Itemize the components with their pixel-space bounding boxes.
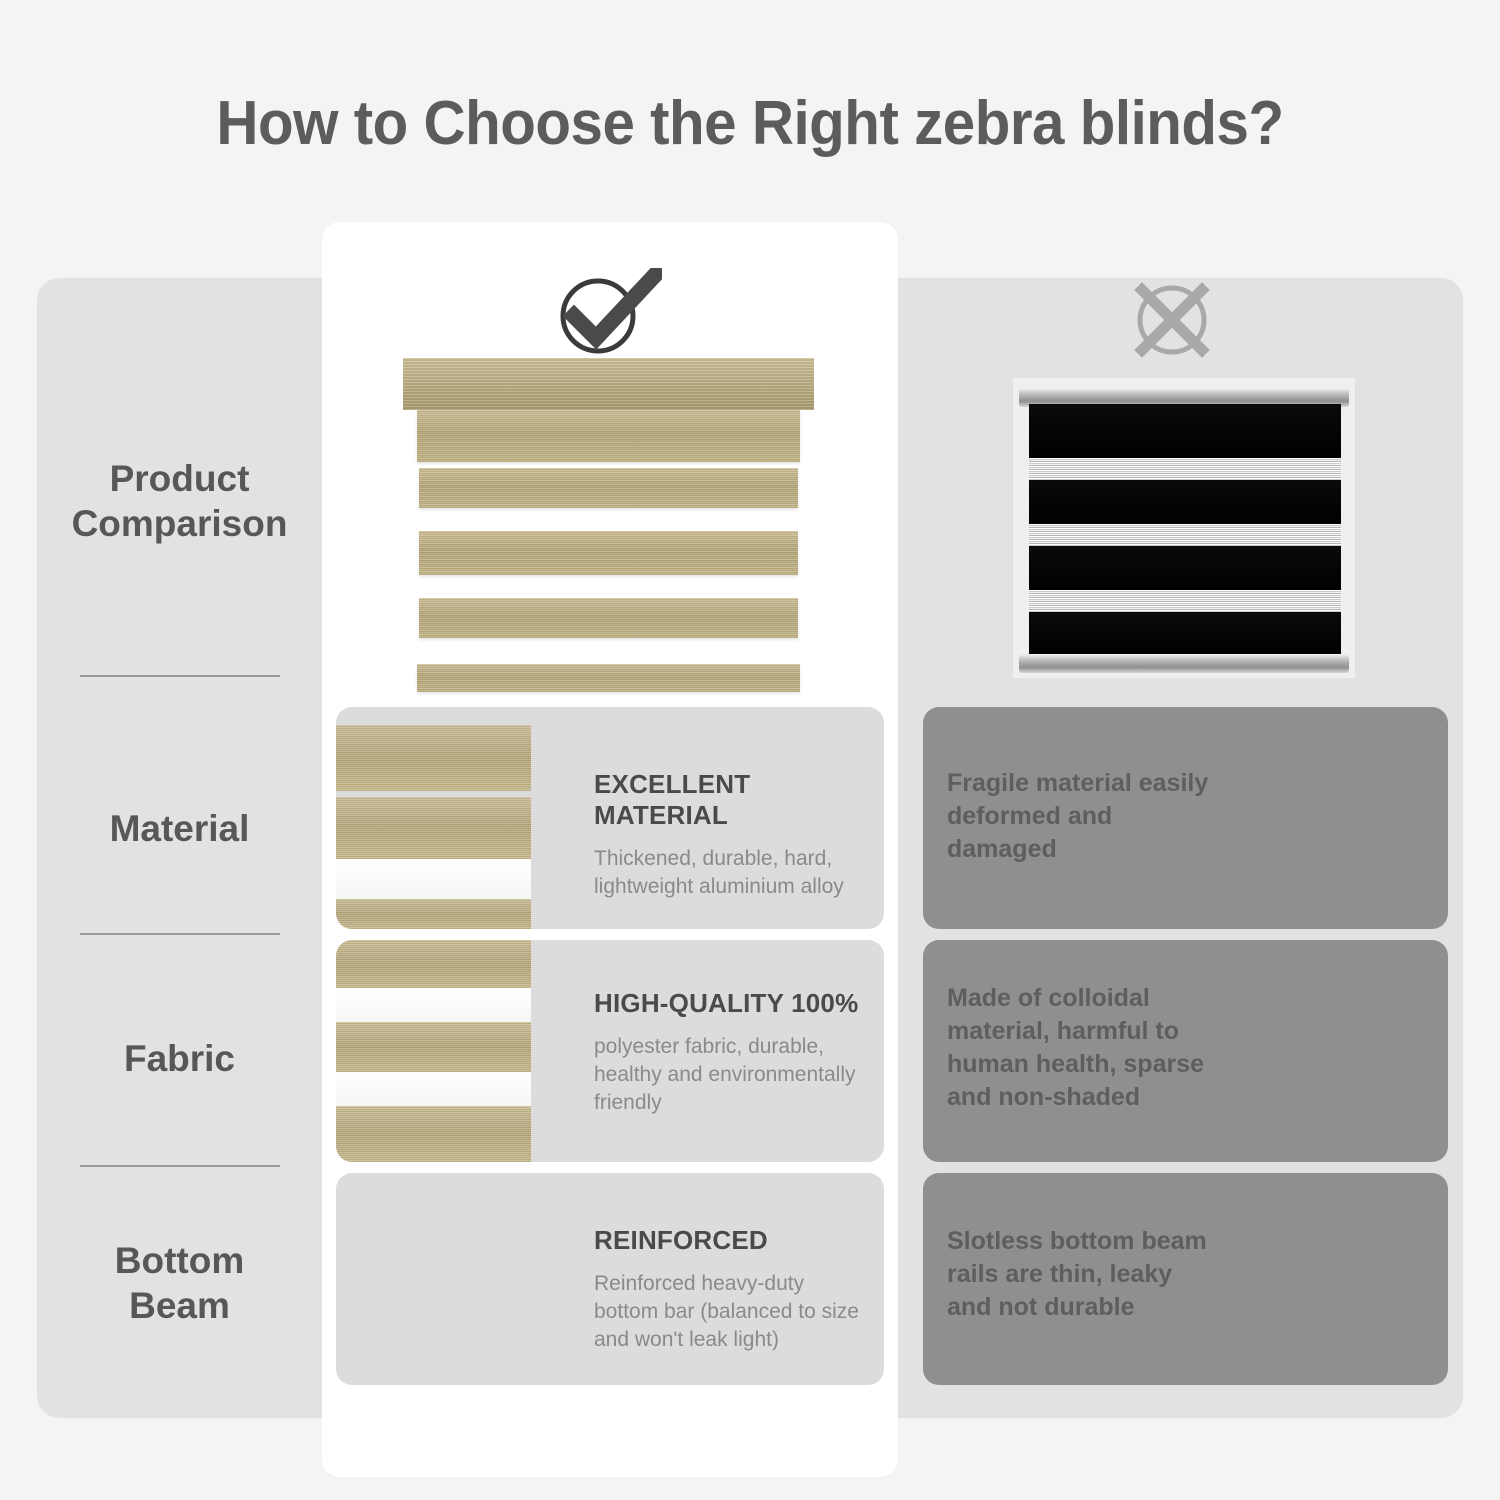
feature-description: Thickened, durable, hard, lightweight al…	[594, 845, 860, 901]
blind-black-band	[1029, 612, 1341, 654]
feature-text-bottom-beam-good: REINFORCED Reinforced heavy-duty bottom …	[594, 1225, 860, 1354]
blind-black-band	[1029, 480, 1341, 524]
feature-card-material-good: EXCELLENT MATERIAL Thickened, durable, h…	[336, 707, 884, 929]
feature-card-bottom-beam-good: REINFORCED Reinforced heavy-duty bottom …	[336, 1173, 884, 1385]
feature-title: REINFORCED	[594, 1225, 860, 1256]
blind-black-band	[1029, 546, 1341, 590]
blind-bottom-bar	[1019, 654, 1349, 673]
feature-description: polyester fabric, durable, healthy and e…	[594, 1033, 860, 1117]
x-circle-icon	[1124, 280, 1220, 360]
check-circle-icon	[552, 268, 662, 358]
feature-card-fabric-good: HIGH-QUALITY 100% polyester fabric, dura…	[336, 940, 884, 1162]
row-label-line1: Product	[37, 456, 322, 501]
row-divider-1	[80, 675, 280, 677]
row-label-line2: Beam	[37, 1283, 322, 1328]
feature-description: Reinforced heavy-duty bottom bar (balanc…	[594, 1270, 860, 1354]
hero-image-tan-zebra-blind	[403, 358, 814, 698]
page-title: How to Choose the Right zebra blinds?	[45, 88, 1455, 159]
row-divider-2	[80, 933, 280, 935]
blind-slat	[417, 410, 800, 462]
feature-card-fabric-bad: Made of colloidal material, harmful to h…	[923, 940, 1448, 1162]
row-label-product-comparison: Product Comparison	[37, 456, 322, 546]
feature-title: EXCELLENT MATERIAL	[594, 769, 860, 831]
row-label-material: Material	[37, 806, 322, 851]
blind-slat	[419, 598, 798, 638]
row-label-column: Product Comparison Material Fabric Botto…	[37, 278, 322, 1418]
hero-image-black-zebra-blind	[1013, 378, 1355, 678]
row-label-line1: Bottom	[37, 1238, 322, 1283]
feature-card-bottom-beam-bad: Slotless bottom beam rails are thin, lea…	[923, 1173, 1448, 1385]
feature-title: HIGH-QUALITY 100%	[594, 988, 860, 1019]
feature-text-fabric-good: HIGH-QUALITY 100% polyester fabric, dura…	[594, 988, 860, 1117]
blind-bottom-bar	[417, 664, 800, 692]
blind-sheer-band	[1029, 590, 1341, 612]
blind-sheer-band	[1029, 524, 1341, 546]
blind-black-band	[1029, 404, 1341, 458]
row-label-line1: Material	[37, 806, 322, 851]
row-label-bottom-beam: Bottom Beam	[37, 1238, 322, 1328]
row-label-fabric: Fabric	[37, 1036, 322, 1081]
row-label-line1: Fabric	[37, 1036, 322, 1081]
feature-text-material-bad: Fragile material easily deformed and dam…	[947, 767, 1209, 866]
feature-text-fabric-bad: Made of colloidal material, harmful to h…	[947, 982, 1209, 1114]
blind-slat	[419, 468, 798, 508]
feature-card-material-bad: Fragile material easily deformed and dam…	[923, 707, 1448, 929]
blind-slat	[419, 531, 798, 575]
row-label-line2: Comparison	[37, 501, 322, 546]
blind-headrail	[403, 358, 814, 410]
row-divider-3	[80, 1165, 280, 1167]
feature-text-material-good: EXCELLENT MATERIAL Thickened, durable, h…	[594, 769, 860, 901]
feature-text-bottom-beam-bad: Slotless bottom beam rails are thin, lea…	[947, 1225, 1209, 1324]
blind-sheer-band	[1029, 458, 1341, 480]
